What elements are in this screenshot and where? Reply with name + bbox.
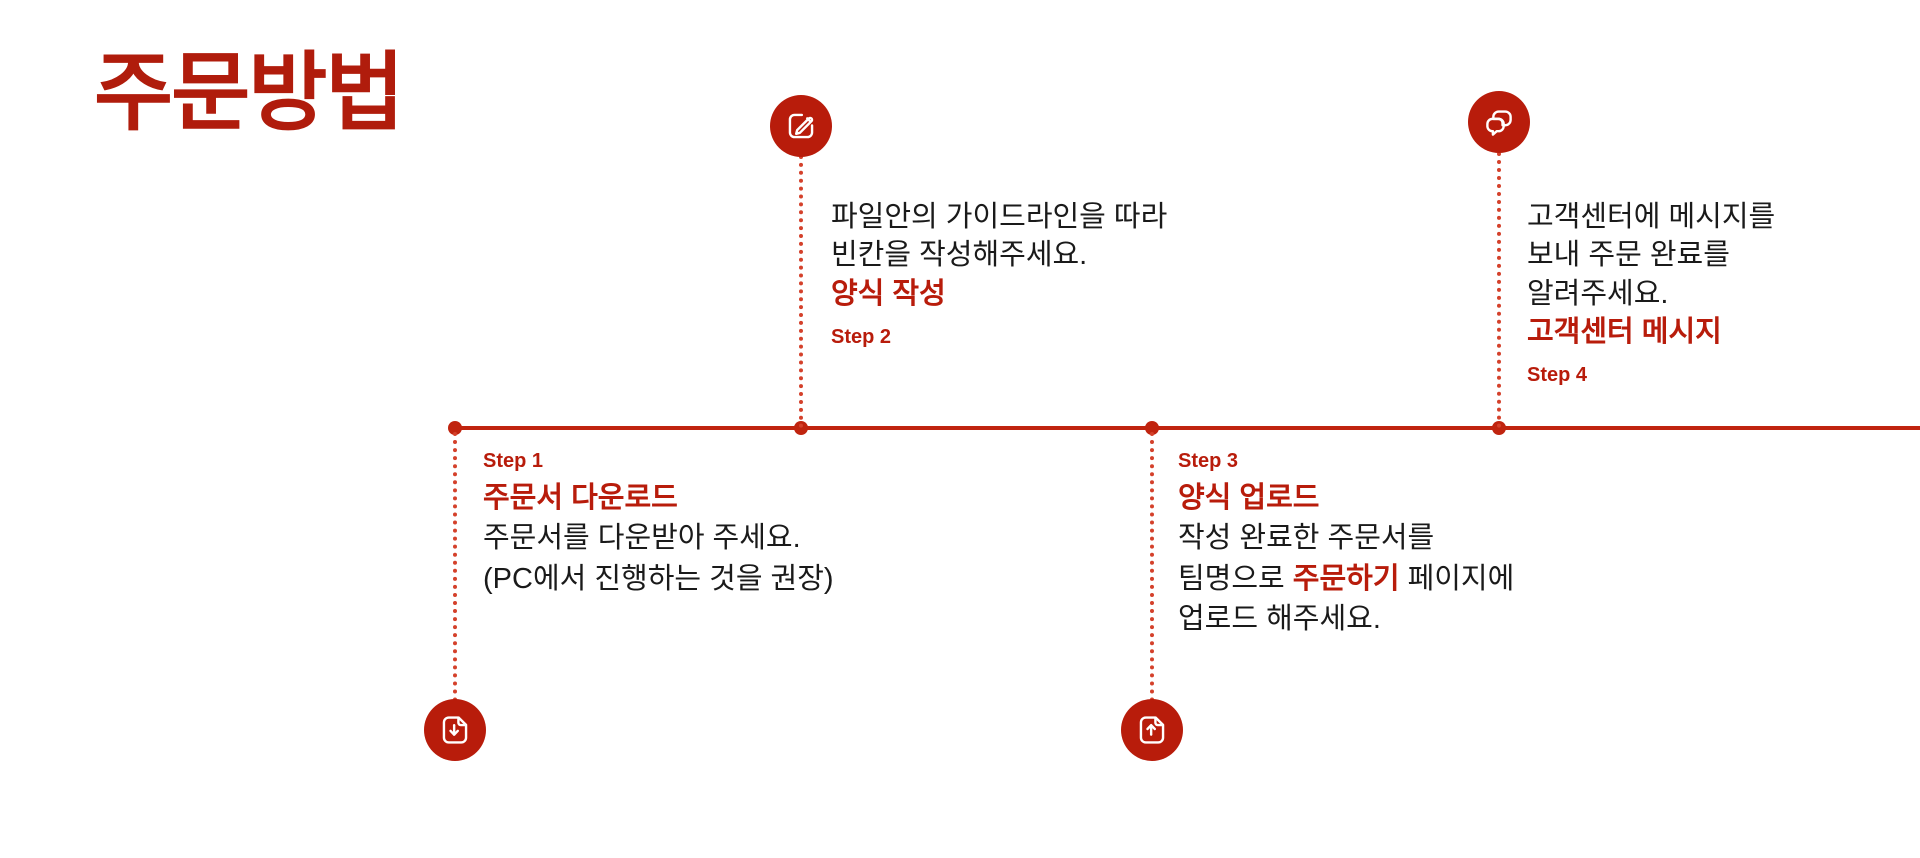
chat-bubbles-icon (1482, 105, 1516, 139)
step-3-label: Step 3 (1178, 445, 1514, 477)
step-4-label: Step 4 (1527, 359, 1775, 391)
file-download-icon (438, 713, 472, 747)
step-4-body-line-2: 보내 주문 완료를 (1527, 236, 1775, 274)
infographic-canvas: 주문방법 (0, 0, 1920, 858)
step-2-heading: 양식 작성 (831, 275, 1167, 313)
step-1-text-block: Step 1 주문서 다운로드 주문서를 다운받아 주세요. (PC에서 진행하… (483, 445, 834, 598)
step-4-body-line-3: 알려주세요. (1527, 275, 1775, 313)
step-1-label: Step 1 (483, 445, 834, 477)
connector-step-1 (453, 432, 457, 718)
step-1-body-line-1: 주문서를 다운받아 주세요. (483, 519, 834, 557)
pencil-edit-icon (784, 109, 818, 143)
step-3-icon-badge[interactable] (1121, 699, 1183, 761)
step-2-icon-badge[interactable] (770, 95, 832, 157)
step-4-heading: 고객센터 메시지 (1527, 313, 1775, 351)
step-3-heading: 양식 업로드 (1178, 479, 1514, 517)
page-title: 주문방법 (94, 50, 402, 136)
step-3-body-line-1: 작성 완료한 주문서를 (1178, 519, 1514, 557)
step-4-body-line-1: 고객센터에 메시지를 (1527, 198, 1775, 236)
file-upload-icon (1135, 713, 1169, 747)
step-3-body-line-2: 팀명으로 주문하기 페이지에 (1178, 560, 1514, 598)
step-2-body-line-2: 빈칸을 작성해주세요. (831, 236, 1167, 274)
step-3-text-block: Step 3 양식 업로드 작성 완료한 주문서를 팀명으로 주문하기 페이지에… (1178, 445, 1514, 638)
step-3-body-line-2-accent: 주문하기 (1293, 563, 1400, 595)
step-1-heading: 주문서 다운로드 (483, 479, 834, 517)
timeline-axis (455, 426, 1920, 430)
connector-step-3 (1150, 432, 1154, 718)
step-2-label: Step 2 (831, 321, 1167, 353)
step-3-body-line-2-after: 페이지에 (1400, 563, 1515, 595)
step-1-icon-badge[interactable] (424, 699, 486, 761)
step-1-body-line-2: (PC에서 진행하는 것을 권장) (483, 560, 834, 598)
step-2-text-block: 파일안의 가이드라인을 따라 빈칸을 작성해주세요. 양식 작성 Step 2 (831, 198, 1167, 353)
step-4-text-block: 고객센터에 메시지를 보내 주문 완료를 알려주세요. 고객센터 메시지 Ste… (1527, 198, 1775, 391)
step-4-icon-badge[interactable] (1468, 91, 1530, 153)
step-3-body-line-2-before: 팀명으로 (1178, 563, 1293, 595)
connector-step-2 (799, 155, 803, 428)
step-2-body-line-1: 파일안의 가이드라인을 따라 (831, 198, 1167, 236)
connector-step-4 (1497, 152, 1501, 428)
step-3-body-line-3: 업로드 해주세요. (1178, 600, 1514, 638)
